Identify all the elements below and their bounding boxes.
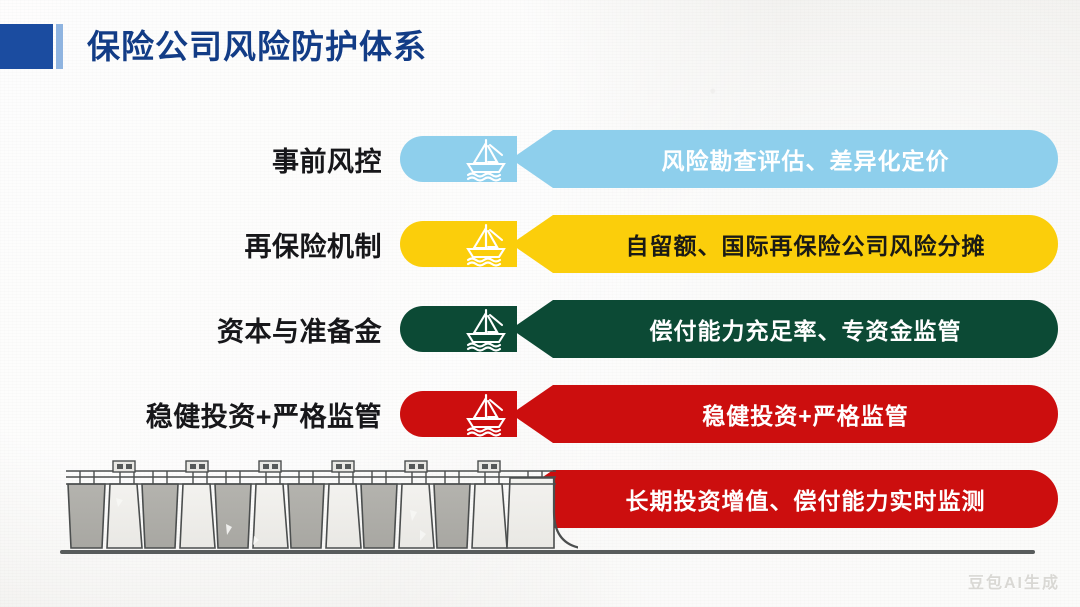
title-bar: 保险公司风险防护体系 (0, 22, 427, 70)
row-4-arrow-bar: 稳健投资+严格监管 (511, 385, 1058, 443)
bottom-arrow-text: 长期投资增值、偿付能力实时监测 (511, 482, 1058, 516)
row-4-label-column: 稳健投资+严格监管 (0, 383, 382, 445)
dam-illustration (58, 452, 578, 562)
risk-row-4: 稳健投资+严格监管 稳健投资+严格监管 (0, 383, 1080, 445)
sailboat-icon (455, 221, 517, 267)
risk-row-3: 资本与准备金 偿付能力充足率、专资金监管 (0, 298, 1080, 360)
row-3-label: 资本与准备金 (217, 298, 382, 360)
row-2-arrow-bar: 自留额、国际再保险公司风险分摊 (511, 215, 1058, 273)
row-1-arrow-bar: 风险勘查评估、差异化定价 (511, 130, 1058, 188)
watermark-label: 豆包AI生成 (968, 569, 1060, 593)
sailboat-icon (455, 306, 517, 352)
row-4-label: 稳健投资+严格监管 (146, 383, 382, 445)
row-4-text: 稳健投资+严格监管 (511, 397, 1058, 431)
row-3-text: 偿付能力充足率、专资金监管 (511, 312, 1058, 346)
row-4-sailboat-icon-box (455, 391, 517, 437)
sailboat-icon (455, 391, 517, 437)
bottom-arrow-bar: 长期投资增值、偿付能力实时监测 (511, 470, 1058, 528)
title-accent-block (0, 24, 53, 69)
sailboat-icon (455, 136, 517, 182)
row-1-sailboat-icon-box (455, 136, 517, 182)
row-2-label-column: 再保险机制 (0, 213, 382, 275)
page-title: 保险公司风险防护体系 (87, 30, 427, 63)
title-accent-thin-bar (56, 24, 63, 69)
row-1-label-column: 事前风控 (0, 128, 382, 190)
slide-canvas: 保险公司风险防护体系 事前风控 风险勘查评估、差异化定价 (0, 0, 1080, 607)
row-1-label: 事前风控 (272, 128, 382, 190)
row-3-label-column: 资本与准备金 (0, 298, 382, 360)
row-2-sailboat-icon-box (455, 221, 517, 267)
row-1-text: 风险勘查评估、差异化定价 (511, 142, 1058, 176)
row-3-arrow-bar: 偿付能力充足率、专资金监管 (511, 300, 1058, 358)
risk-row-1: 事前风控 风险勘查评估、差异化定价 (0, 128, 1080, 190)
row-2-label: 再保险机制 (245, 213, 383, 275)
risk-row-2: 再保险机制 自留额、国际再保险公司风险分摊 (0, 213, 1080, 275)
row-2-text: 自留额、国际再保险公司风险分摊 (511, 227, 1058, 261)
ground-line (60, 550, 1035, 554)
row-3-sailboat-icon-box (455, 306, 517, 352)
